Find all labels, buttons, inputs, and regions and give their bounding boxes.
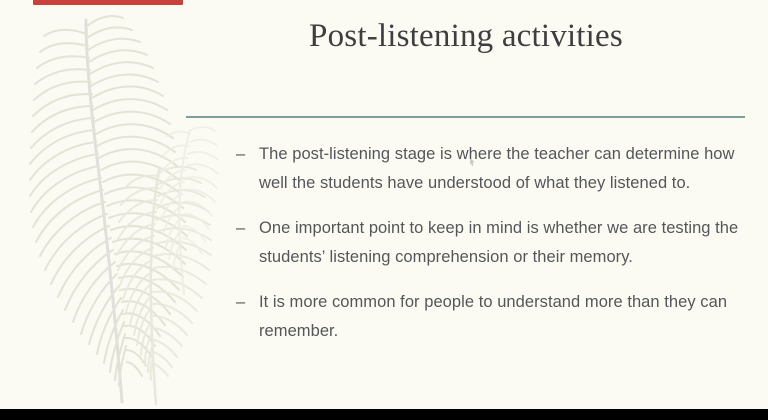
bullet-text: The post-listening stage is where the te… bbox=[259, 140, 748, 198]
slide-canvas: Post-listening activities – The post-lis… bbox=[0, 0, 768, 409]
slide-title: Post-listening activities bbox=[186, 18, 746, 56]
bullet-dash-marker: – bbox=[236, 140, 259, 169]
presentation-slide: Post-listening activities – The post-lis… bbox=[0, 0, 768, 420]
bottom-letterbox-bar bbox=[0, 409, 768, 420]
bullet-text: One important point to keep in mind is w… bbox=[259, 214, 748, 272]
feather-watermark-icon bbox=[6, 0, 236, 409]
bullet-dash-marker: – bbox=[236, 288, 259, 317]
bullet-list: – The post-listening stage is where the … bbox=[236, 140, 748, 346]
list-item: – One important point to keep in mind is… bbox=[236, 214, 748, 272]
mouse-cursor-icon bbox=[470, 153, 475, 161]
list-item: – The post-listening stage is where the … bbox=[236, 140, 748, 198]
bullet-text: It is more common for people to understa… bbox=[259, 288, 748, 346]
bullet-dash-marker: – bbox=[236, 214, 259, 243]
red-accent-bar bbox=[33, 0, 183, 5]
list-item: – It is more common for people to unders… bbox=[236, 288, 748, 346]
title-divider-rule bbox=[186, 116, 745, 118]
